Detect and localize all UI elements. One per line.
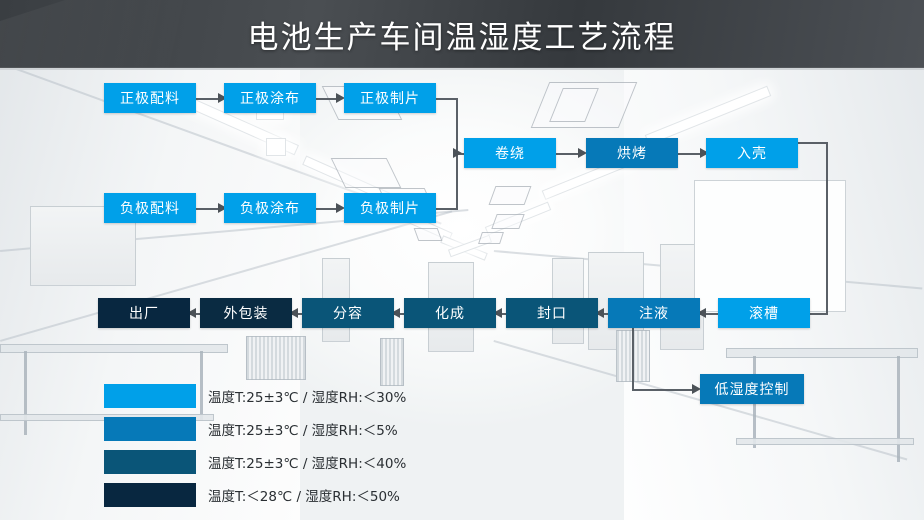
legend-row: 温度T:25±3℃ / 湿度RH:＜40%: [104, 450, 464, 483]
node-grading[interactable]: 分容: [302, 298, 394, 328]
node-anode-coating[interactable]: 负极涂布: [224, 193, 316, 223]
legend-swatch: [104, 450, 196, 474]
page-title: 电池生产车间温湿度工艺流程: [0, 12, 924, 57]
node-grooving[interactable]: 滚槽: [718, 298, 810, 328]
node-shipment[interactable]: 出厂: [98, 298, 190, 328]
legend-swatch: [104, 384, 196, 408]
node-label: 正极制片: [360, 88, 420, 108]
node-label: 负极配料: [120, 198, 180, 218]
node-winding[interactable]: 卷绕: [464, 138, 556, 168]
legend-swatch: [104, 483, 196, 507]
legend-row: 温度T:＜28℃ / 湿度RH:＜50%: [104, 483, 464, 516]
node-label: 入壳: [737, 143, 767, 163]
legend-swatch: [104, 417, 196, 441]
node-label: 低湿度控制: [715, 379, 790, 399]
node-label: 注液: [639, 303, 669, 323]
node-electrolyte-filling[interactable]: 注液: [608, 298, 700, 328]
node-anode-pressing[interactable]: 负极制片: [344, 193, 436, 223]
node-label: 负极涂布: [240, 198, 300, 218]
node-label: 正极涂布: [240, 88, 300, 108]
node-label: 卷绕: [495, 143, 525, 163]
slide-canvas: 电池生产车间温湿度工艺流程: [0, 0, 924, 520]
legend-row: 温度T:25±3℃ / 湿度RH:＜30%: [104, 384, 464, 417]
legend-row: 温度T:25±3℃ / 湿度RH:＜5%: [104, 417, 464, 450]
node-sealing[interactable]: 封口: [506, 298, 598, 328]
node-anode-mixing[interactable]: 负极配料: [104, 193, 196, 223]
node-label: 负极制片: [360, 198, 420, 218]
legend-label: 温度T:25±3℃ / 湿度RH:＜5%: [208, 419, 398, 439]
node-cathode-pressing[interactable]: 正极制片: [344, 83, 436, 113]
legend-label: 温度T:25±3℃ / 湿度RH:＜30%: [208, 386, 406, 406]
node-low-humidity-control[interactable]: 低湿度控制: [700, 374, 804, 404]
node-label: 出厂: [129, 303, 159, 323]
node-formation[interactable]: 化成: [404, 298, 496, 328]
node-outer-packaging[interactable]: 外包装: [200, 298, 292, 328]
node-label: 封口: [537, 303, 567, 323]
node-label: 正极配料: [120, 88, 180, 108]
node-label: 烘烤: [617, 143, 647, 163]
legend-label: 温度T:＜28℃ / 湿度RH:＜50%: [208, 485, 400, 505]
node-label: 化成: [435, 303, 465, 323]
node-cathode-mixing[interactable]: 正极配料: [104, 83, 196, 113]
node-cathode-coating[interactable]: 正极涂布: [224, 83, 316, 113]
node-label: 外包装: [224, 303, 269, 323]
node-label: 分容: [333, 303, 363, 323]
node-label: 滚槽: [749, 303, 779, 323]
slide-header: 电池生产车间温湿度工艺流程: [0, 0, 924, 70]
legend-label: 温度T:25±3℃ / 湿度RH:＜40%: [208, 452, 406, 472]
node-casing[interactable]: 入壳: [706, 138, 798, 168]
legend: 温度T:25±3℃ / 湿度RH:＜30% 温度T:25±3℃ / 湿度RH:＜…: [104, 384, 464, 516]
node-baking[interactable]: 烘烤: [586, 138, 678, 168]
